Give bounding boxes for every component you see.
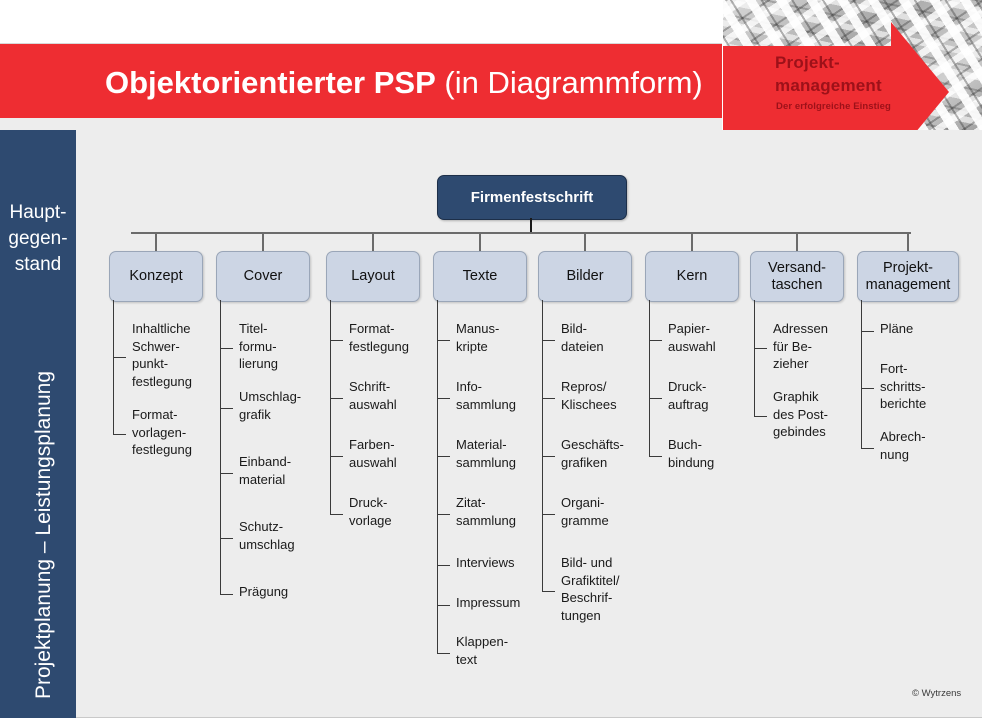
sidebar-vertical-label: Projektplanung – Leistungsplanung [24,265,64,718]
cover-title-line2: management [775,76,882,96]
branch-tick [861,388,874,389]
branch-tick [437,514,450,515]
sub-item[interactable]: Bild- und Grafiktitel/ Beschrif- tungen [561,554,663,624]
sub-item[interactable]: Einband- material [239,453,341,488]
sidebar-main-object-label: Haupt- gegen- stand [0,130,76,278]
sub-item[interactable]: Abrech- nung [880,428,982,463]
branch-tick [437,565,450,566]
page-title: Objektorientierter PSP (in Diagrammform) [105,60,785,108]
sub-item[interactable]: Format- vorlagen- festlegung [132,406,234,459]
connector-drop [796,232,798,251]
connector-drop [584,232,586,251]
branch-tick [330,398,343,399]
root-node-firmenfestschrift[interactable]: Firmenfestschrift [437,175,627,220]
branch-tick [542,340,555,341]
sub-item[interactable]: Impressum [456,594,558,612]
branch-tick [649,340,662,341]
connector-drop [907,232,909,251]
branch-tick [113,357,126,358]
sub-item[interactable]: Organi- gramme [561,494,663,529]
sub-item[interactable]: Adressen für Be- zieher [773,320,875,373]
cover-subtitle: Der erfolgreiche Einstieg [776,101,891,112]
branch-tick [861,331,874,332]
node-bilder[interactable]: Bilder [538,251,632,302]
sub-item[interactable]: Repros/ Klischees [561,378,663,413]
sub-item[interactable]: Umschlag- grafik [239,388,341,423]
branch-tick [649,456,662,457]
node-konzept[interactable]: Konzept [109,251,203,302]
sub-item[interactable]: Format- festlegung [349,320,451,355]
branch-tick [113,434,126,435]
branch-tick [437,605,450,606]
branch-tick [220,538,233,539]
sub-item[interactable]: Schrift- auswahl [349,378,451,413]
sub-item[interactable]: Geschäfts- grafiken [561,436,663,471]
branch-spine [330,300,331,514]
branch-spine [861,300,862,448]
sub-item[interactable]: Bild- dateien [561,320,663,355]
branch-spine [220,300,221,594]
connector-drop [155,232,157,251]
sub-item[interactable]: Pläne [880,320,982,338]
left-sidebar: Haupt- gegen- stand Projektplanung – Lei… [0,130,76,718]
sub-item[interactable]: Inhaltliche Schwer- punkt- festlegung [132,320,234,390]
sub-item[interactable]: Schutz- umschlag [239,518,341,553]
page-title-bold: Objektorientierter PSP [105,65,436,100]
branch-spine [649,300,650,456]
branch-spine [542,300,543,591]
branch-tick [330,340,343,341]
branch-tick [754,416,767,417]
node-kern[interactable]: Kern [645,251,739,302]
branch-tick [542,591,555,592]
branch-tick [437,398,450,399]
sub-item[interactable]: Buch- bindung [668,436,770,471]
sub-item[interactable]: Prägung [239,583,341,601]
branch-tick [330,514,343,515]
connector-drop [372,232,374,251]
branch-tick [861,448,874,449]
sub-item[interactable]: Graphik des Post- gebindes [773,388,875,441]
branch-tick [220,408,233,409]
node-projekt-management[interactable]: Projekt- management [857,251,959,302]
node-versand-taschen[interactable]: Versand- taschen [750,251,844,302]
node-layout[interactable]: Layout [326,251,420,302]
branch-spine [113,300,114,434]
connector-drop [479,232,481,251]
sub-item[interactable]: Druck- vorlage [349,494,451,529]
page-title-normal: (in Diagrammform) [436,65,703,100]
copyright-label: © Wytrzens [912,688,961,699]
node-cover[interactable]: Cover [216,251,310,302]
node-texte[interactable]: Texte [433,251,527,302]
sub-item[interactable]: Fort- schritts- berichte [880,360,982,413]
sub-item[interactable]: Titel- formu- lierung [239,320,341,373]
cover-title-line1: Projekt- [775,53,840,73]
branch-tick [220,348,233,349]
branch-tick [649,398,662,399]
branch-tick [542,398,555,399]
branch-tick [754,348,767,349]
connector-drop [691,232,693,251]
branch-tick [437,456,450,457]
branch-tick [220,473,233,474]
connector-drop [262,232,264,251]
branch-spine [754,300,755,416]
slide-canvas: Objektorientierter PSP (in Diagrammform)… [0,0,982,718]
level1-bus-line [131,232,911,234]
sub-item[interactable]: Klappen- text [456,633,558,668]
branch-tick [437,653,450,654]
branch-tick [437,340,450,341]
branch-tick [330,456,343,457]
branch-tick [220,594,233,595]
branch-tick [542,514,555,515]
sub-item[interactable]: Farben- auswahl [349,436,451,471]
branch-spine [437,300,438,653]
branch-tick [542,456,555,457]
root-connector [530,218,532,233]
